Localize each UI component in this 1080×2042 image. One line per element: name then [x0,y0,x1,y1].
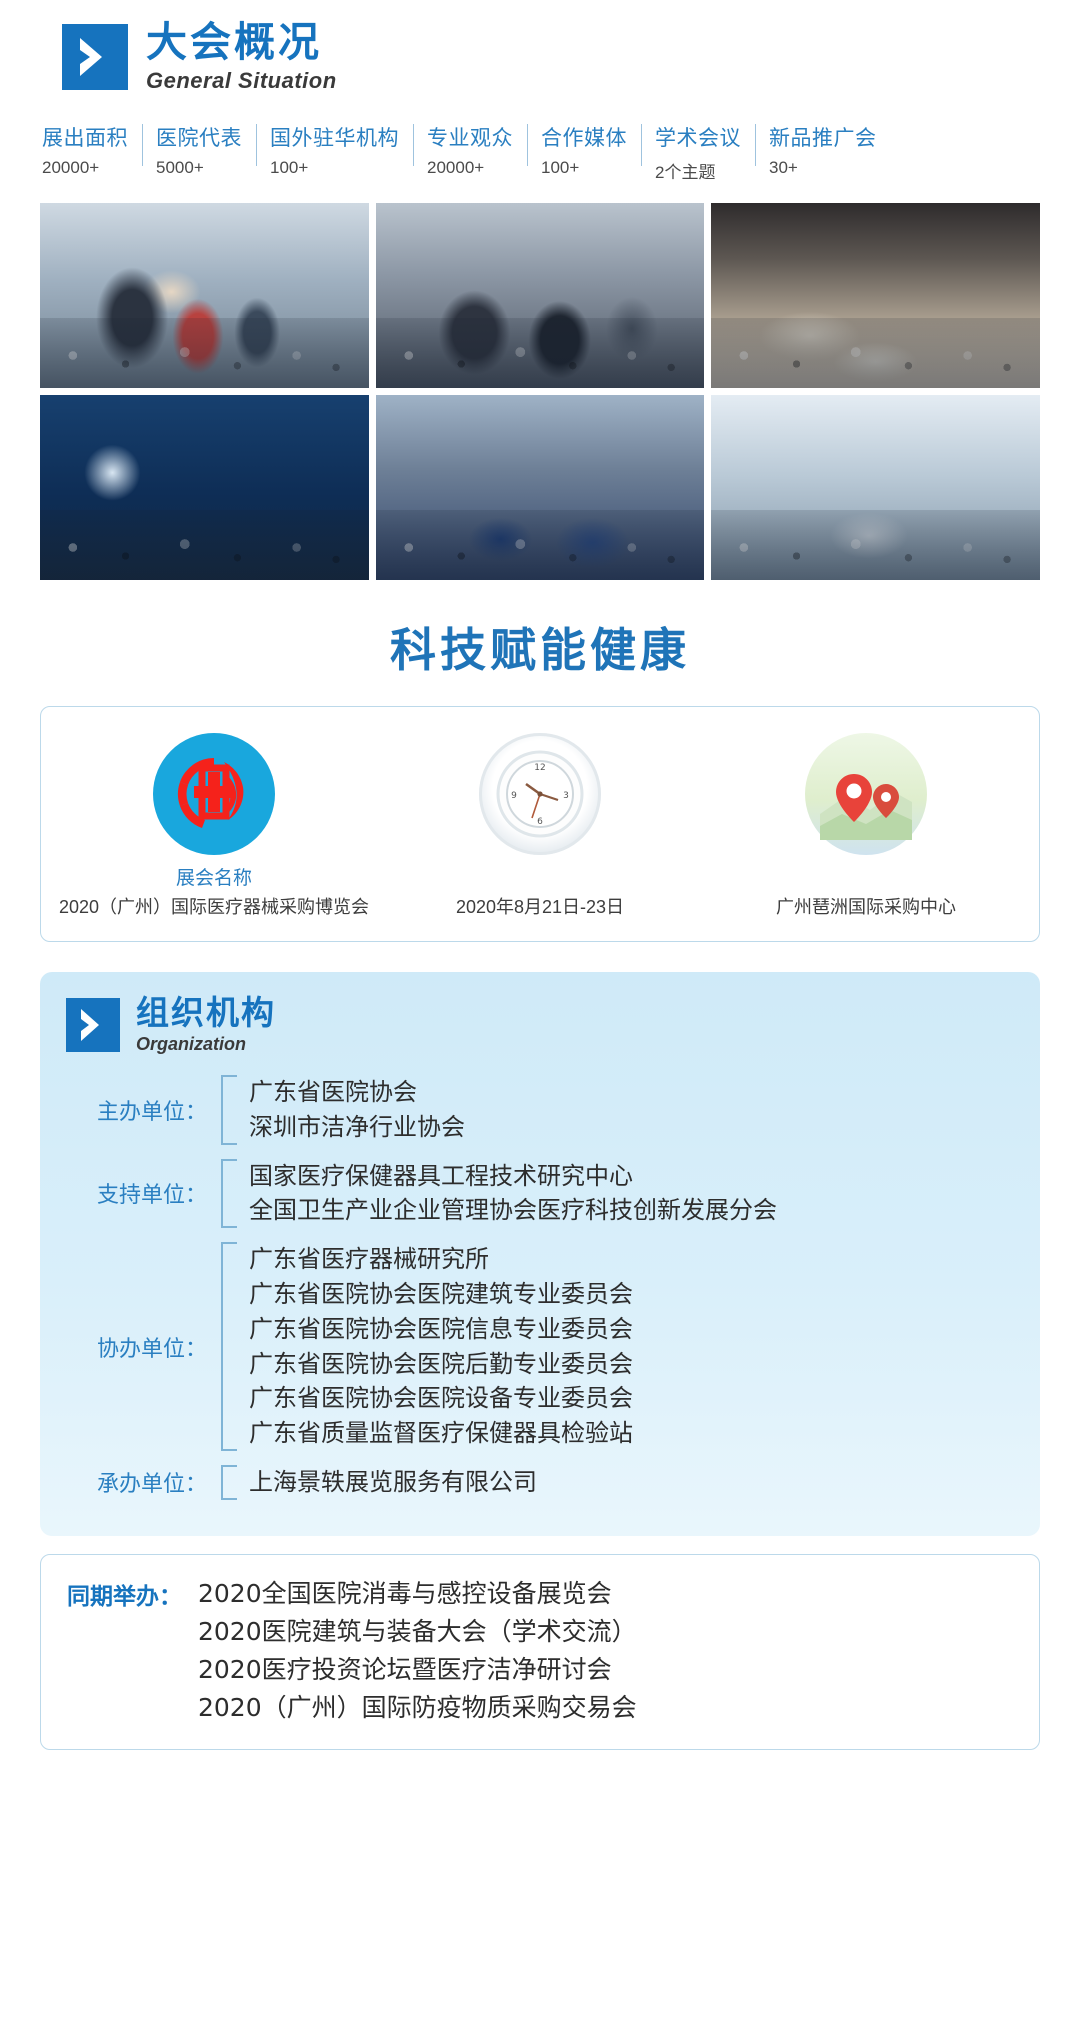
stat-item: 新品推广会 30+ [755,122,891,178]
chevron-right-logo-icon [62,24,128,90]
svg-text:12: 12 [534,763,545,773]
stat-item: 展出面积 20000+ [42,122,142,178]
stat-value: 30+ [769,158,877,178]
org-value: 深圳市洁净行业协会 [249,1110,465,1145]
list-item: 2020医院建筑与装备大会（学术交流） [198,1613,637,1651]
org-row-values: 广东省医院协会 深圳市洁净行业协会 [249,1075,465,1145]
stat-label: 医院代表 [156,122,242,152]
concurrent-events-key: 同期举办： [67,1575,182,1727]
concurrent-events-card: 同期举办： 2020全国医院消毒与感控设备展览会 2020医院建筑与装备大会（学… [40,1554,1040,1750]
org-value: 广东省医院协会 [249,1075,465,1110]
info-column-name: 展会名称 2020（广州）国际医疗器械采购博览会 [51,733,377,919]
org-value: 广东省医院协会医院建筑专业委员会 [249,1277,633,1312]
stat-label: 专业观众 [427,122,513,152]
list-item: 2020（广州）国际防疫物质采购交易会 [198,1689,637,1727]
list-item: 2020全国医院消毒与感控设备展览会 [198,1575,637,1613]
photo-keynote-speaker [40,395,369,580]
photo-exhibition-lounge [711,395,1040,580]
org-row-support: 支持单位： 国家医疗保健器具工程技术研究中心 全国卫生产业企业管理协会医疗科技创… [66,1159,1014,1229]
bracket-icon [221,1242,237,1451]
org-row-key: 承办单位： [66,1466,221,1498]
photo-grid [40,203,1040,580]
page-root: 大会概况 General Situation 展出面积 20000+ 医院代表 … [0,0,1080,2042]
stat-value: 100+ [541,158,627,178]
stat-item: 专业观众 20000+ [413,122,527,178]
info-value: 2020年8月21日-23日 [377,893,703,919]
organization-title: 组织机构 [136,996,276,1029]
organization-section: 组织机构 Organization 主办单位： 广东省医院协会 深圳市洁净行业协… [40,972,1040,1536]
wall-clock-icon: 12 3 6 9 [479,733,601,855]
photo-expo-booth-visitors [40,203,369,388]
org-row-key: 主办单位： [66,1094,221,1126]
org-row-values: 广东省医疗器械研究所 广东省医院协会医院建筑专业委员会 广东省医院协会医院信息专… [249,1242,633,1451]
stat-label: 合作媒体 [541,122,627,152]
bracket-icon [221,1159,237,1229]
org-row-key: 支持单位： [66,1177,221,1209]
photo-forum-tables [376,395,705,580]
info-column-venue: 广州琶洲国际采购中心 [703,733,1029,919]
page-title: 大会概况 [146,22,337,63]
stat-label: 学术会议 [655,122,741,152]
stat-value: 20000+ [427,158,513,178]
page-subtitle: General Situation [146,70,337,92]
list-item: 2020医疗投资论坛暨医疗洁净研讨会 [198,1651,637,1689]
org-row-undertaker: 承办单位： 上海景轶展览服务有限公司 [66,1465,1014,1500]
info-label [377,863,703,887]
info-label [703,863,1029,887]
info-value: 广州琶洲国际采购中心 [703,893,1029,919]
org-value: 上海景轶展览服务有限公司 [249,1465,537,1500]
photo-conference-audience [376,203,705,388]
bracket-icon [221,1465,237,1500]
stat-label: 国外驻华机构 [270,122,399,152]
event-info-card: 展会名称 2020（广州）国际医疗器械采购博览会 12 3 6 9 [40,706,1040,942]
svg-text:6: 6 [537,817,543,827]
svg-text:3: 3 [563,791,569,801]
bracket-icon [221,1075,237,1145]
svg-text:9: 9 [511,791,517,801]
stat-label: 新品推广会 [769,122,877,152]
stat-item: 合作媒体 100+ [527,122,641,178]
section-headline: 科技赋能健康 [40,614,1040,680]
medical-cross-emblem-icon [153,733,275,855]
info-column-date: 12 3 6 9 2020年8月21日-23日 [377,733,703,919]
info-value: 2020（广州）国际医疗器械采购博览会 [51,893,377,919]
chevron-right-logo-icon [66,998,120,1052]
org-value: 广东省医疗器械研究所 [249,1242,633,1277]
org-row-host: 主办单位： 广东省医院协会 深圳市洁净行业协会 [66,1075,1014,1145]
org-row-values: 上海景轶展览服务有限公司 [249,1465,537,1500]
organization-subtitle: Organization [136,1035,276,1053]
page-header: 大会概况 General Situation [40,0,1040,98]
stat-value: 5000+ [156,158,242,178]
photo-main-hall-seating [711,203,1040,388]
stat-value: 20000+ [42,158,128,178]
org-row-key: 协办单位： [66,1331,221,1363]
org-value: 全国卫生产业企业管理协会医疗科技创新发展分会 [249,1193,777,1228]
org-value: 国家医疗保健器具工程技术研究中心 [249,1159,777,1194]
org-value: 广东省医院协会医院设备专业委员会 [249,1381,633,1416]
stat-label: 展出面积 [42,122,128,152]
org-value: 广东省质量监督医疗保健器具检验站 [249,1416,633,1451]
map-location-pin-icon [805,733,927,855]
stat-value: 2个主题 [655,158,741,183]
organization-header: 组织机构 Organization [66,996,1014,1053]
stat-item: 学术会议 2个主题 [641,122,755,183]
info-label: 展会名称 [51,863,377,887]
stat-item: 医院代表 5000+ [142,122,256,178]
concurrent-events-list: 2020全国医院消毒与感控设备展览会 2020医院建筑与装备大会（学术交流） 2… [198,1575,637,1727]
org-row-values: 国家医疗保健器具工程技术研究中心 全国卫生产业企业管理协会医疗科技创新发展分会 [249,1159,777,1229]
org-row-coorganizer: 协办单位： 广东省医疗器械研究所 广东省医院协会医院建筑专业委员会 广东省医院协… [66,1242,1014,1451]
stat-value: 100+ [270,158,399,178]
stats-row: 展出面积 20000+ 医院代表 5000+ 国外驻华机构 100+ 专业观众 … [40,98,1040,183]
stat-item: 国外驻华机构 100+ [256,122,413,178]
org-value: 广东省医院协会医院信息专业委员会 [249,1312,633,1347]
org-value: 广东省医院协会医院后勤专业委员会 [249,1347,633,1382]
